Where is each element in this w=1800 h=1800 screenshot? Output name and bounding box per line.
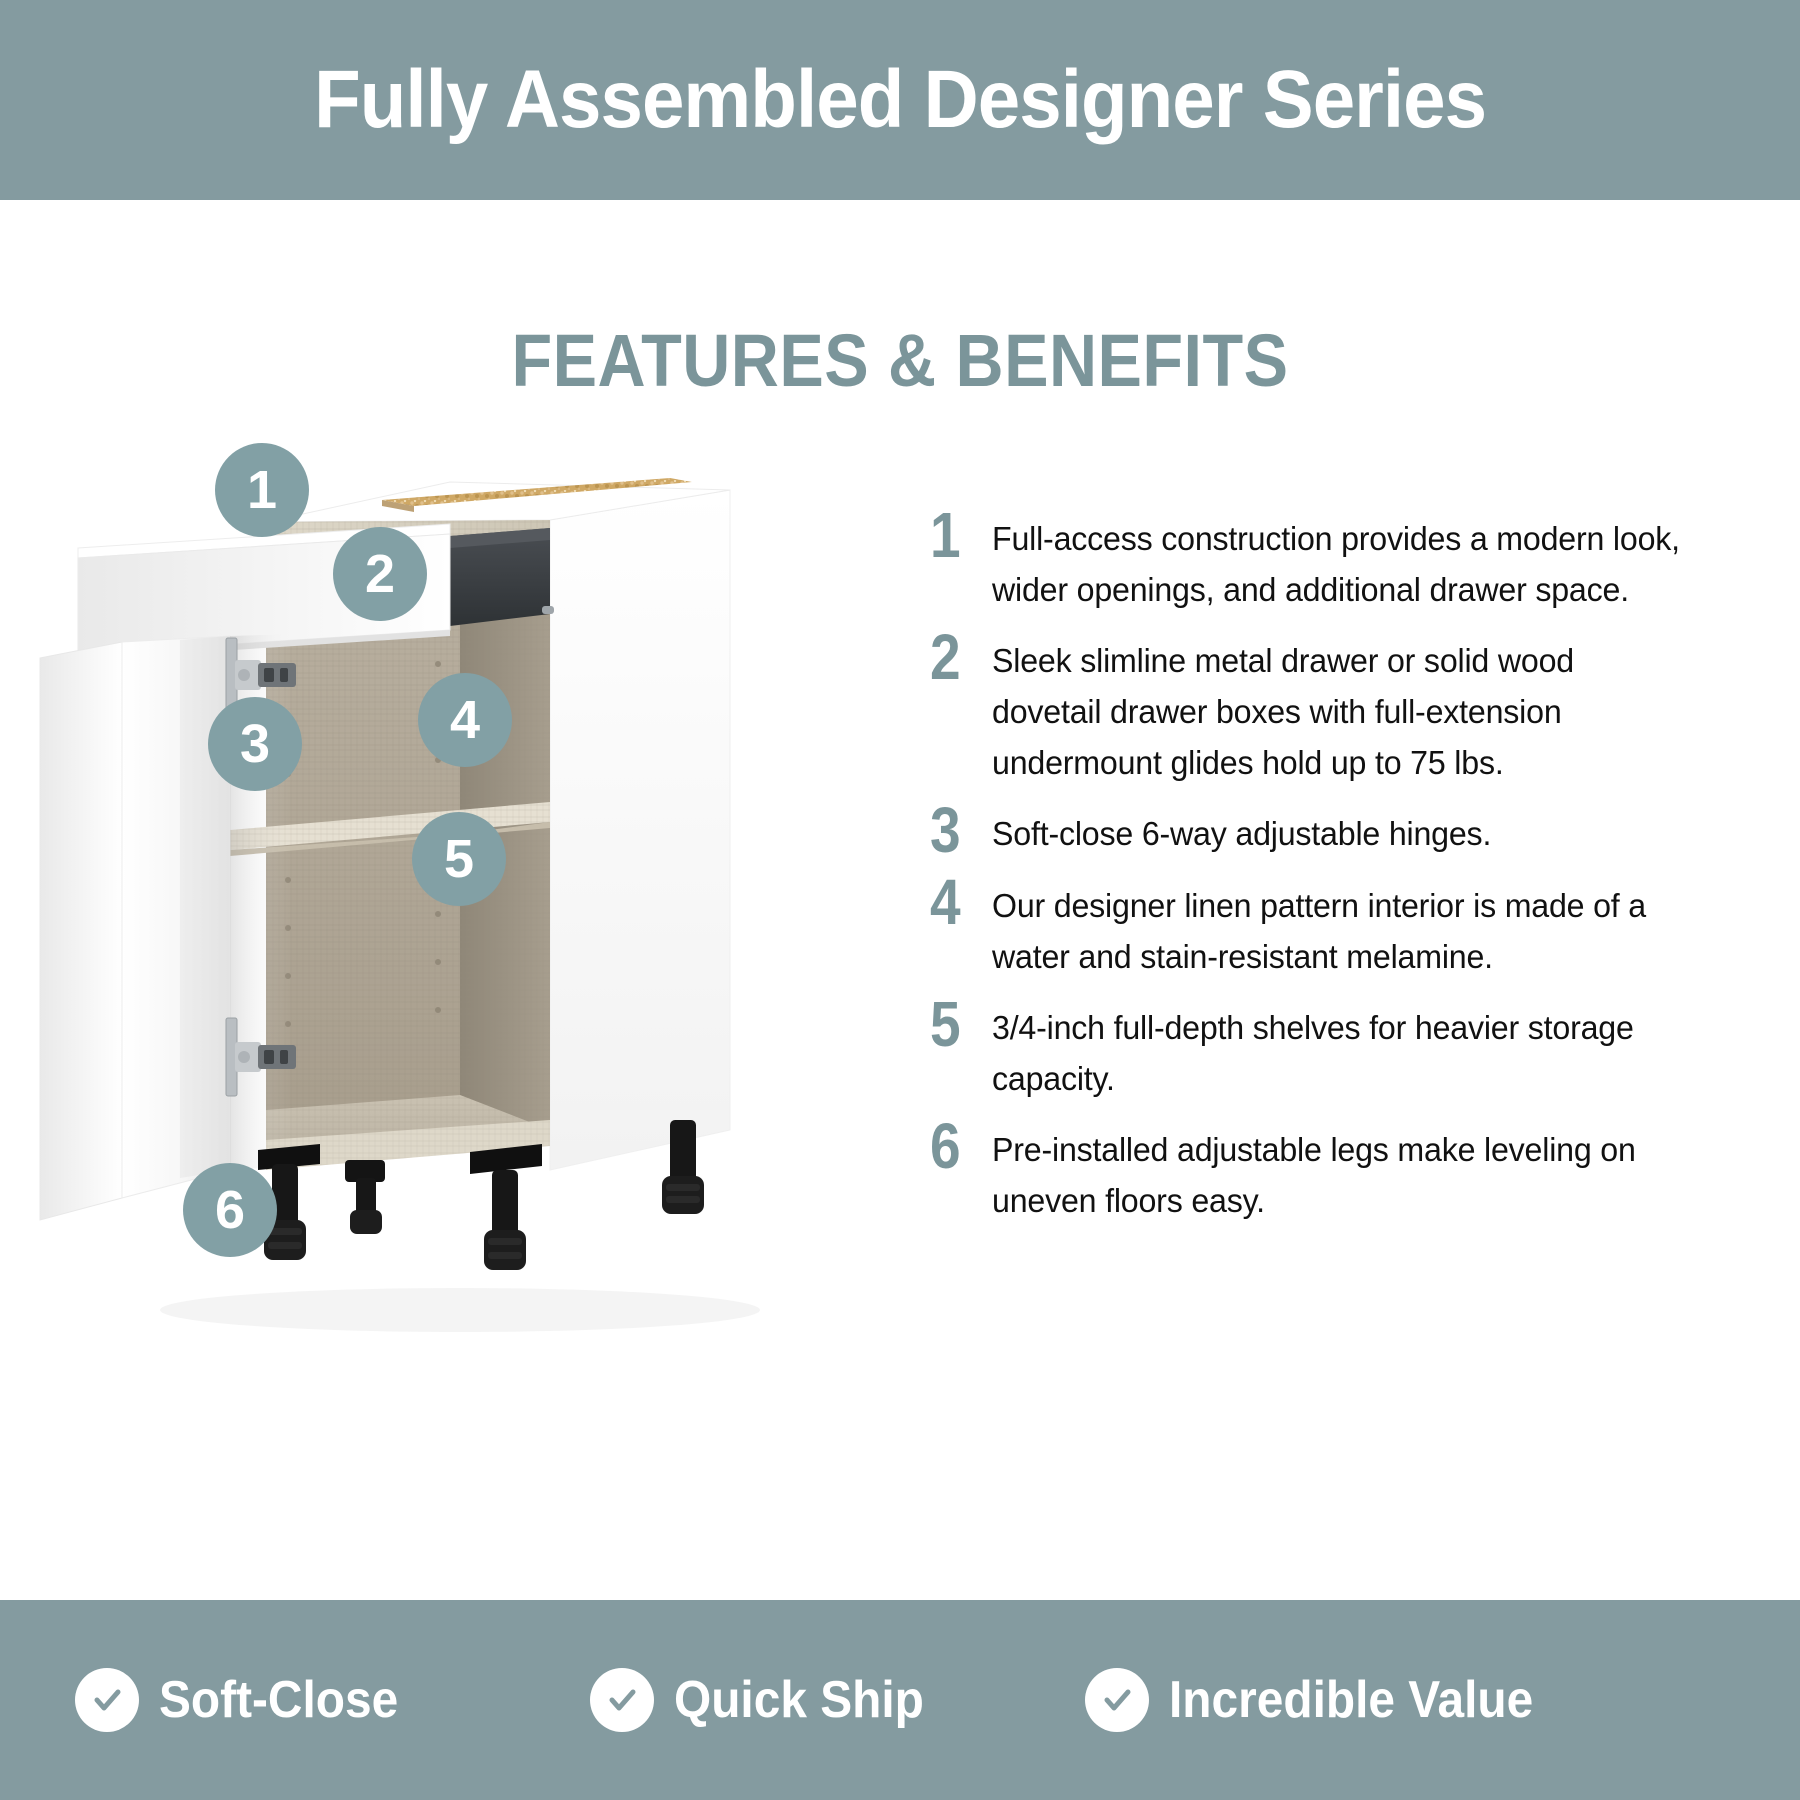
feature-description: Pre-installed adjustable legs make level… <box>992 1119 1691 1227</box>
cabinet-illustration <box>30 430 910 1510</box>
footer-label: Soft-Close <box>159 1670 398 1730</box>
callout-badge-5: 5 <box>412 812 506 906</box>
feature-number: 1 <box>930 504 983 566</box>
feature-description: Full-access construction provides a mode… <box>992 508 1691 616</box>
feature-number: 4 <box>930 871 983 933</box>
callout-badge-4: 4 <box>418 673 512 767</box>
footer-badge-quick-ship: Quick Ship <box>590 1668 946 1732</box>
footer-badge-soft-close: Soft-Close <box>75 1668 419 1732</box>
feature-item-4: 4 Our designer linen pattern interior is… <box>930 875 1720 983</box>
feature-description: 3/4-inch full-depth shelves for heavier … <box>992 997 1691 1105</box>
callout-badge-1: 1 <box>215 443 309 537</box>
feature-item-3: 3 Soft-close 6-way adjustable hinges. <box>930 803 1720 861</box>
footer-bar: Soft-Close Quick Ship Incredible Value <box>0 1600 1800 1800</box>
header-bar: Fully Assembled Designer Series <box>0 0 1800 200</box>
feature-description: Our designer linen pattern interior is m… <box>992 875 1691 983</box>
feature-description: Sleek slimline metal drawer or solid woo… <box>992 630 1691 789</box>
check-circle-icon <box>1085 1668 1149 1732</box>
feature-description: Soft-close 6-way adjustable hinges. <box>992 803 1691 860</box>
features-list: 1 Full-access construction provides a mo… <box>930 508 1720 1241</box>
feature-item-6: 6 Pre-installed adjustable legs make lev… <box>930 1119 1720 1227</box>
footer-badge-incredible-value: Incredible Value <box>1085 1668 1565 1732</box>
feature-number: 5 <box>930 993 983 1055</box>
callout-badge-3: 3 <box>208 697 302 791</box>
callout-badge-2: 2 <box>333 527 427 621</box>
page-title: Fully Assembled Designer Series <box>314 53 1486 147</box>
feature-item-1: 1 Full-access construction provides a mo… <box>930 508 1720 616</box>
footer-label: Incredible Value <box>1169 1670 1533 1730</box>
footer-label: Quick Ship <box>674 1670 924 1730</box>
feature-item-5: 5 3/4-inch full-depth shelves for heavie… <box>930 997 1720 1105</box>
feature-number: 3 <box>930 799 983 861</box>
check-circle-icon <box>75 1668 139 1732</box>
section-heading: FEATURES & BENEFITS <box>90 318 1710 403</box>
feature-number: 6 <box>930 1115 983 1177</box>
infographic-page: Fully Assembled Designer Series FEATURES… <box>0 0 1800 1800</box>
feature-number: 2 <box>930 626 983 688</box>
check-circle-icon <box>590 1668 654 1732</box>
feature-item-2: 2 Sleek slimline metal drawer or solid w… <box>930 630 1720 789</box>
callout-badge-6: 6 <box>183 1163 277 1257</box>
